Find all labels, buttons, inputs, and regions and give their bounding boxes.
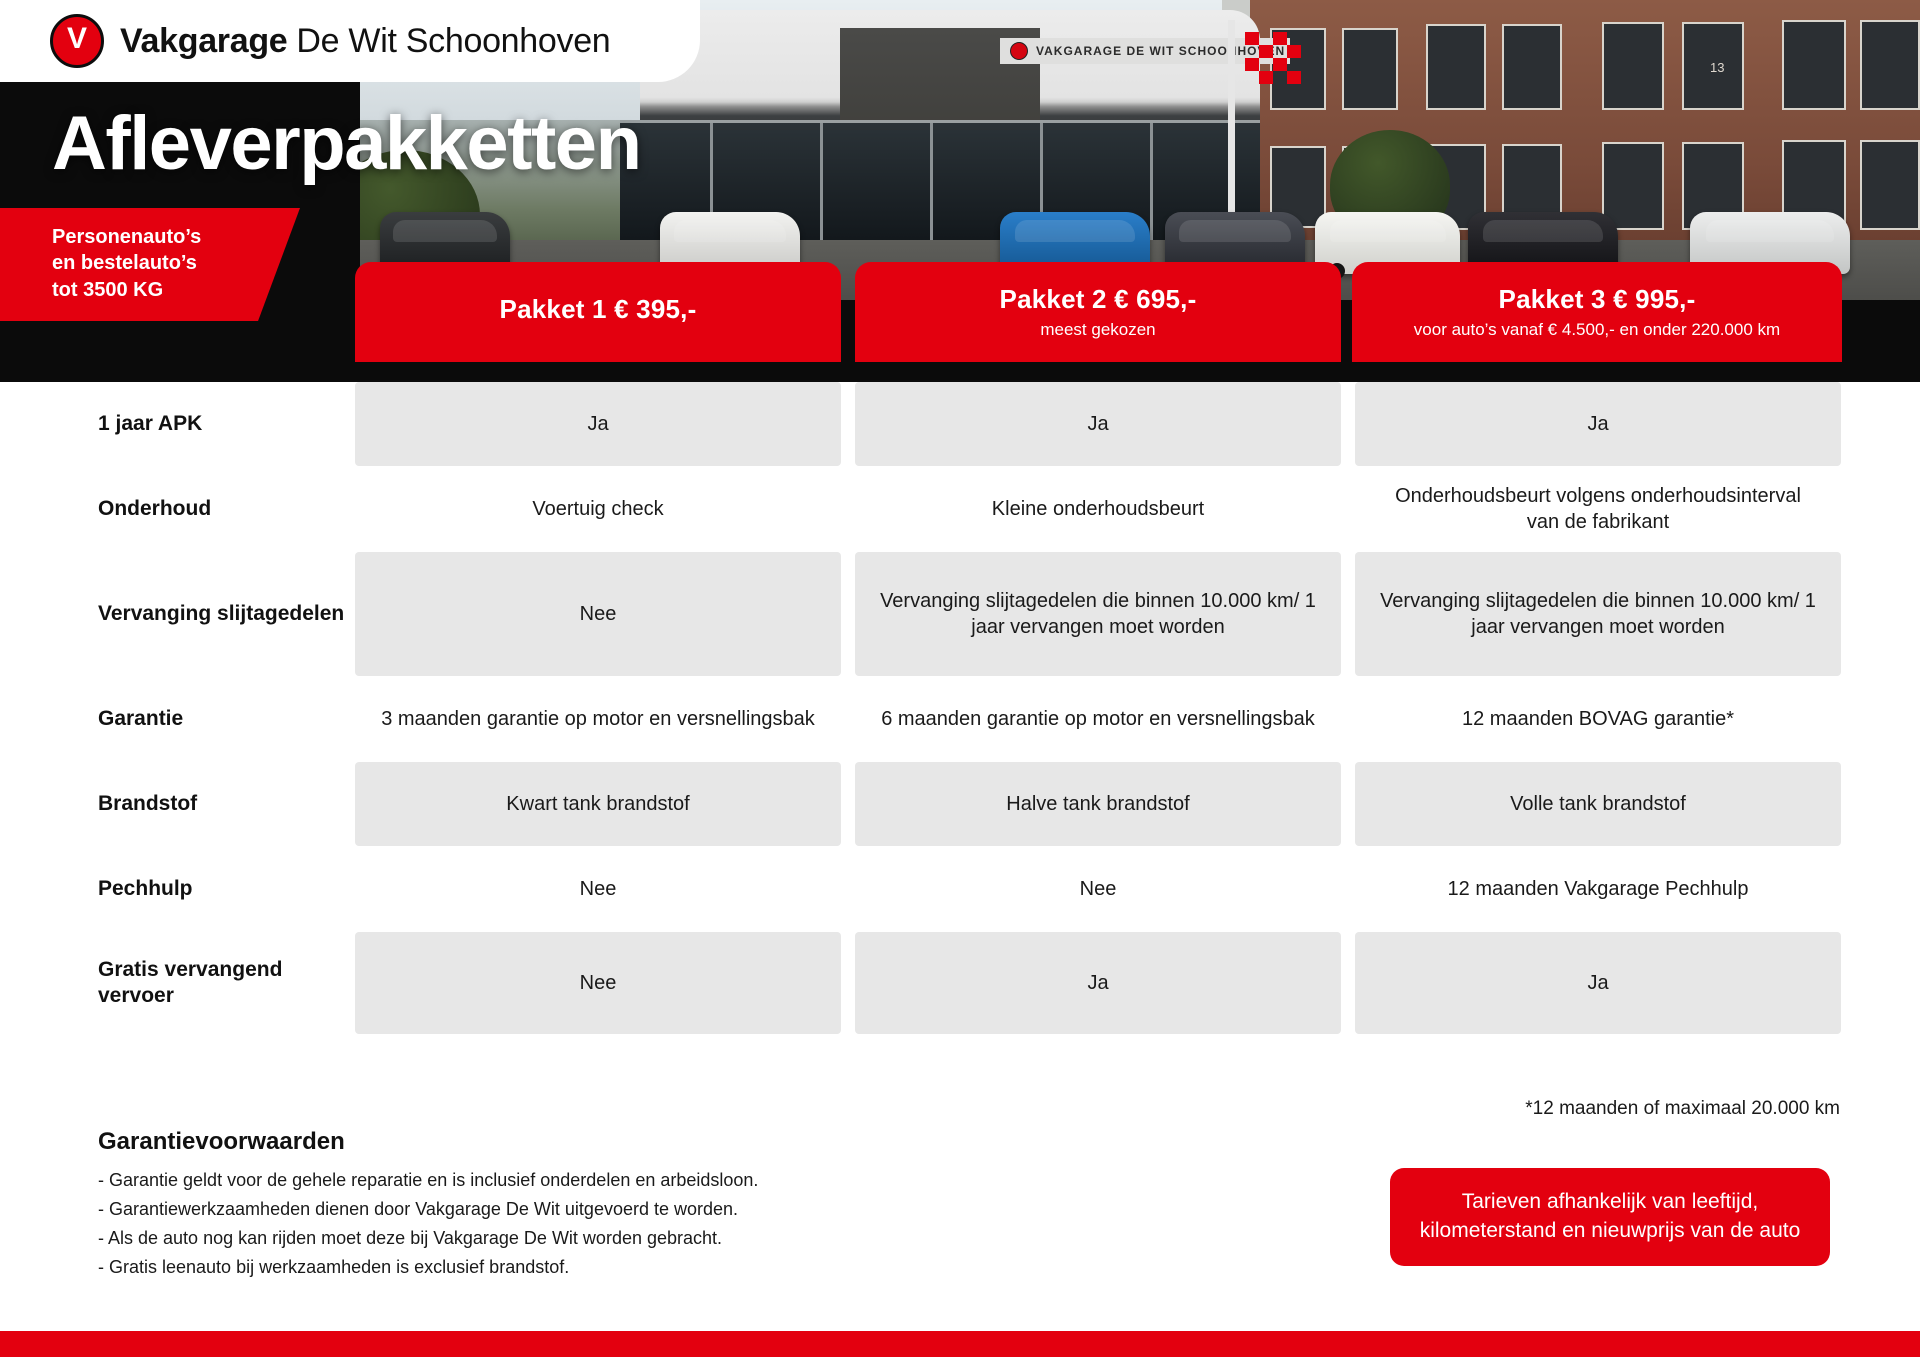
row-label: 1 jaar APK xyxy=(0,382,355,466)
row-label: Vervanging slijtagedelen xyxy=(0,552,355,676)
page-title: Afleverpakketten xyxy=(52,100,641,187)
table-cell: 12 maanden Vakgarage Pechhulp xyxy=(1355,846,1841,932)
terms-heading: Garantievoorwaarden xyxy=(98,1128,998,1156)
table-cell: Ja xyxy=(855,382,1341,466)
brand-header: V Vakgarage De Wit Schoonhoven xyxy=(0,0,700,82)
package-subtitle-2: meest gekozen xyxy=(1040,320,1155,341)
poster-page: 13 VAKGARAGE DE WIT SCHOONHOVEN xyxy=(0,0,1920,1357)
tariff-note-box: Tarieven afhankelijk van leeftijd, kilom… xyxy=(1390,1168,1830,1266)
package-header-2[interactable]: Pakket 2 € 695,- meest gekozen xyxy=(855,262,1341,362)
checker-flag-icon xyxy=(1245,32,1303,84)
table-cell: 6 maanden garantie op motor en versnelli… xyxy=(855,676,1341,762)
table-cell: Ja xyxy=(355,382,841,466)
row-label: Onderhoud xyxy=(0,466,355,552)
table-cell: Nee xyxy=(355,552,841,676)
terms-list: - Garantie geldt voor de gehele reparati… xyxy=(98,1166,998,1283)
branch-name: De Wit Schoonhoven xyxy=(296,22,610,61)
table-row: Pechhulp Nee Nee 12 maanden Vakgarage Pe… xyxy=(0,846,1920,932)
table-row: Garantie 3 maanden garantie op motor en … xyxy=(0,676,1920,762)
terms-item: - Garantie geldt voor de gehele reparati… xyxy=(98,1166,998,1195)
table-cell: 12 maanden BOVAG garantie* xyxy=(1355,676,1841,762)
comparison-table: 1 jaar APK Ja Ja Ja Onderhoud Voertuig c… xyxy=(0,382,1920,1034)
package-title-3: Pakket 3 € 995,- xyxy=(1499,284,1696,315)
table-cell: Ja xyxy=(1355,932,1841,1034)
table-cell: Vervanging slijtagedelen die binnen 10.0… xyxy=(855,552,1341,676)
row-label: Pechhulp xyxy=(0,846,355,932)
table-cell: Nee xyxy=(355,846,841,932)
table-row: Brandstof Kwart tank brandstof Halve tan… xyxy=(0,762,1920,846)
house-number: 13 xyxy=(1710,60,1724,75)
package-title-2: Pakket 2 € 695,- xyxy=(1000,284,1197,315)
table-cell: 3 maanden garantie op motor en versnelli… xyxy=(355,676,841,762)
package-subtitle-3: voor auto’s vanaf € 4.500,- en onder 220… xyxy=(1414,320,1780,341)
row-label: Brandstof xyxy=(0,762,355,846)
table-cell: Nee xyxy=(355,932,841,1034)
package-header-1[interactable]: Pakket 1 € 395,- xyxy=(355,262,841,362)
row-label: Gratis vervangend vervoer xyxy=(0,932,355,1034)
badge-line-1: Personenauto’s xyxy=(52,224,234,250)
table-cell: Kwart tank brandstof xyxy=(355,762,841,846)
terms-item: - Garantiewerkzaamheden dienen door Vakg… xyxy=(98,1195,998,1224)
table-cell: Vervanging slijtagedelen die binnen 10.0… xyxy=(1355,552,1841,676)
vehicle-scope-badge: Personenauto’s en bestelauto’s tot 3500 … xyxy=(0,208,300,321)
table-cell: Ja xyxy=(1355,382,1841,466)
terms-item: - Gratis leenauto bij werkzaamheden is e… xyxy=(98,1253,998,1282)
badge-line-2: en bestelauto’s xyxy=(52,250,234,276)
badge-line-3: tot 3500 KG xyxy=(52,277,234,303)
table-row: Onderhoud Voertuig check Kleine onderhou… xyxy=(0,466,1920,552)
table-row: Vervanging slijtagedelen Nee Vervanging … xyxy=(0,552,1920,676)
table-cell: Kleine onderhoudsbeurt xyxy=(855,466,1341,552)
table-cell: Nee xyxy=(855,846,1341,932)
terms-item: - Als de auto nog kan rijden moet deze b… xyxy=(98,1224,998,1253)
package-header-3[interactable]: Pakket 3 € 995,- voor auto’s vanaf € 4.5… xyxy=(1352,262,1842,362)
table-row: Gratis vervangend vervoer Nee Ja Ja xyxy=(0,932,1920,1034)
table-cell: Ja xyxy=(855,932,1341,1034)
signage-logo-icon xyxy=(1010,42,1028,60)
table-cell: Halve tank brandstof xyxy=(855,762,1341,846)
table-row: 1 jaar APK Ja Ja Ja xyxy=(0,382,1920,466)
vakgarage-v-logo-icon: V xyxy=(50,14,104,68)
table-cell: Voertuig check xyxy=(355,466,841,552)
row-label: Garantie xyxy=(0,676,355,762)
warranty-terms: Garantievoorwaarden - Garantie geldt voo… xyxy=(98,1128,998,1283)
footer-bar xyxy=(0,1331,1920,1357)
package-title-1: Pakket 1 € 395,- xyxy=(500,294,697,325)
warranty-footnote: *12 maanden of maximaal 20.000 km xyxy=(1525,1098,1840,1120)
table-cell: Onderhoudsbeurt volgens onderhoudsinterv… xyxy=(1355,466,1841,552)
brand-name: Vakgarage xyxy=(120,22,287,61)
table-cell: Volle tank brandstof xyxy=(1355,762,1841,846)
